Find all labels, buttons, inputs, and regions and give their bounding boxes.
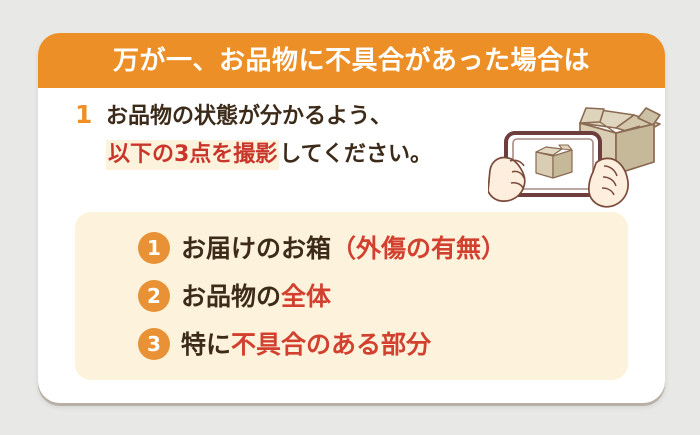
list-item: 1 お届けのお箱（外傷の有無） bbox=[138, 224, 506, 272]
list-item: 2 お品物の全体 bbox=[138, 272, 506, 320]
list-item-text: お品物の全体 bbox=[181, 284, 331, 309]
notice-card: 万が一、お品物に不具合があった場合は 1 お品物の状態が分かるよう、 以下の3点… bbox=[38, 33, 665, 403]
list-item-text: お届けのお箱（外傷の有無） bbox=[181, 236, 506, 261]
step-one-line-2-rest: してください。 bbox=[279, 142, 432, 167]
list-item-text-plain: お届けのお箱 bbox=[181, 234, 331, 263]
list-item-badge: 3 bbox=[138, 328, 170, 360]
step-one-text: お品物の状態が分かるよう、 以下の3点を撮影してください。 bbox=[106, 98, 526, 174]
right-hand-icon bbox=[589, 158, 628, 206]
step-one-number: 1 bbox=[75, 102, 92, 127]
step-one-highlight: 以下の3点を撮影 bbox=[106, 140, 279, 170]
list-item-text-accent: 不具合のある部分 bbox=[231, 330, 431, 359]
step-one-block: 1 お品物の状態が分かるよう、 以下の3点を撮影してください。 bbox=[38, 88, 665, 208]
list-item-badge: 2 bbox=[138, 280, 170, 312]
list-item-text: 特に不具合のある部分 bbox=[181, 332, 431, 357]
photo-checklist-rows: 1 お届けのお箱（外傷の有無） 2 お品物の全体 3 特に不具合のある部分 bbox=[138, 224, 506, 368]
list-item-text-plain: 特に bbox=[181, 330, 231, 359]
list-item-text-accent: 全体 bbox=[281, 282, 331, 311]
list-item-text-accent: （外傷の有無） bbox=[331, 234, 506, 263]
box-on-screen-icon bbox=[536, 145, 572, 178]
card-header-title: 万が一、お品物に不具合があった場合は bbox=[113, 48, 590, 74]
list-item-text-plain: お品物の bbox=[181, 282, 281, 311]
card-header: 万が一、お品物に不具合があった場合は bbox=[38, 33, 665, 88]
screenshot-root: 万が一、お品物に不具合があった場合は 1 お品物の状態が分かるよう、 以下の3点… bbox=[0, 0, 700, 435]
photo-checklist-panel: 1 お届けのお箱（外傷の有無） 2 お品物の全体 3 特に不具合のある部分 bbox=[75, 212, 628, 380]
list-item-badge: 1 bbox=[138, 232, 170, 264]
list-item: 3 特に不具合のある部分 bbox=[138, 320, 506, 368]
step-one-line-2: 以下の3点を撮影してください。 bbox=[106, 136, 526, 174]
illustration-hands-tablet-box bbox=[488, 88, 665, 218]
step-one-line-1: お品物の状態が分かるよう、 bbox=[106, 98, 526, 136]
